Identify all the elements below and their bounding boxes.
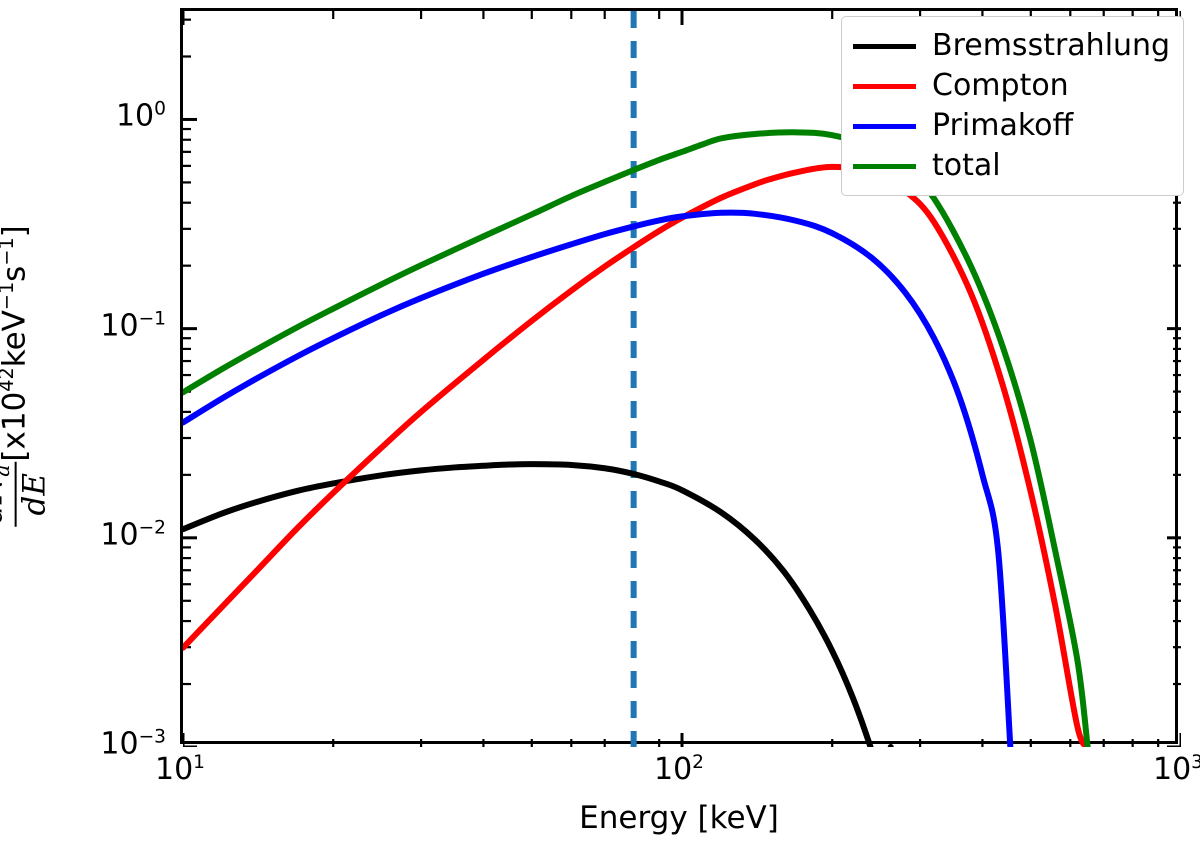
y-unit-exp-m1b: −1 [0, 237, 18, 265]
y-unit-close: ] [0, 225, 33, 237]
y-tick-label: 10−1 [100, 308, 180, 343]
y-den-d: d [17, 496, 53, 516]
y-unit-keV: keV [0, 310, 33, 367]
legend-label: Compton [932, 71, 1069, 101]
y-axis-title: d˙Na dE [x1042keV−1s−1] [0, 225, 55, 527]
y-axis-fraction: d˙Na dE [0, 462, 53, 527]
x-tick-label: 103 [1153, 752, 1200, 787]
legend-label: Bremsstrahlung [932, 31, 1170, 61]
y-num-Ndot: ˙N [0, 477, 9, 504]
legend-item-total[interactable]: total [853, 146, 1170, 186]
y-axis-denominator: dE [17, 462, 54, 527]
y-unit-exp42: 42 [0, 367, 18, 391]
x-tick-label: 102 [654, 752, 704, 787]
legend-item-primakoff[interactable]: Primakoff [853, 106, 1170, 146]
legend-line-swatch [853, 124, 916, 129]
y-tick-label: 100 [116, 99, 180, 134]
y-axis-numerator: d˙Na [0, 462, 17, 527]
y-unit-exp-m1: −1 [0, 282, 18, 310]
legend-line-swatch [853, 84, 916, 89]
legend: BremsstrahlungComptonPrimakofftotal [841, 16, 1184, 196]
y-unit-open: [x10 [0, 392, 33, 462]
x-tick-label: 101 [155, 752, 205, 787]
y-num-sub: a [0, 465, 14, 477]
legend-item-bremsstrahlung[interactable]: Bremsstrahlung [853, 26, 1170, 66]
legend-item-compton[interactable]: Compton [853, 66, 1170, 106]
y-tick-label: 10−2 [100, 517, 180, 552]
y-unit-s: s [0, 266, 33, 282]
legend-label: Primakoff [932, 111, 1073, 141]
y-den-E: E [17, 473, 53, 496]
x-axis-title: Energy [keV] [579, 800, 779, 836]
legend-label: total [932, 151, 1001, 181]
legend-line-swatch [853, 164, 916, 169]
figure: 10010−110−210−3 101102103 Energy [keV] d… [0, 0, 1200, 841]
legend-line-swatch [853, 44, 916, 49]
y-num-d: d [0, 504, 10, 524]
